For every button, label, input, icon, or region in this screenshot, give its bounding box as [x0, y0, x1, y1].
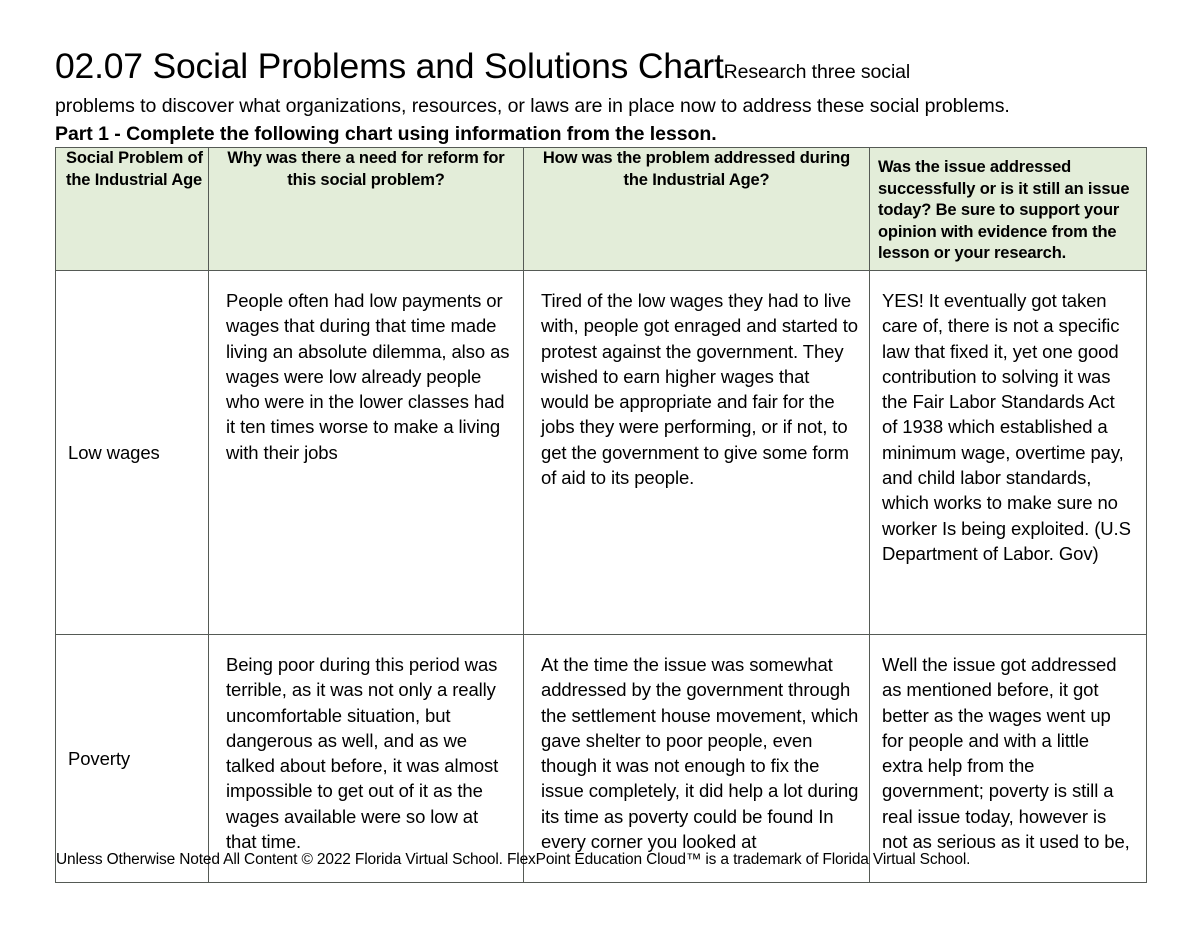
table-row: Poverty Being poor during this period wa…: [56, 635, 1147, 883]
social-problems-table: Social Problem of the Industrial Age Why…: [55, 147, 1147, 883]
table-header-row: Social Problem of the Industrial Age Why…: [56, 148, 1147, 271]
column-header-issue-today: Was the issue addressed successfully or …: [870, 148, 1147, 271]
document-page: 02.07 Social Problems and Solutions Char…: [0, 0, 1200, 927]
heading-subtitle-rest: problems to discover what organizations,…: [55, 93, 1150, 120]
cell-how-poverty[interactable]: At the time the issue was somewhat addre…: [524, 635, 870, 883]
column-header-need-for-reform: Why was there a need for reform for this…: [209, 148, 524, 271]
cell-why-poverty[interactable]: Being poor during this period was terrib…: [209, 635, 524, 883]
cell-how-low-wages[interactable]: Tired of the low wages they had to live …: [524, 271, 870, 635]
cell-today-low-wages[interactable]: YES! It eventually got taken care of, th…: [870, 271, 1147, 635]
heading-subtitle-inline: Research three social: [724, 61, 911, 83]
table-body: Low wages People often had low payments …: [56, 271, 1147, 883]
column-header-social-problem: Social Problem of the Industrial Age: [56, 148, 209, 271]
cell-problem-poverty[interactable]: Poverty: [56, 635, 209, 883]
table-header: Social Problem of the Industrial Age Why…: [56, 148, 1147, 271]
page-footer: Unless Otherwise Noted All Content © 202…: [56, 850, 970, 870]
column-header-how-addressed: How was the problem addressed during the…: [524, 148, 870, 271]
heading-part-label: Part 1 - Complete the following chart us…: [55, 121, 1150, 147]
page-title: 02.07 Social Problems and Solutions Char…: [55, 46, 724, 86]
cell-problem-low-wages[interactable]: Low wages: [56, 271, 209, 635]
cell-today-poverty[interactable]: Well the issue got addressed as mentione…: [870, 635, 1147, 883]
document-heading: 02.07 Social Problems and Solutions Char…: [55, 46, 1150, 147]
table-row: Low wages People often had low payments …: [56, 271, 1147, 635]
heading-line-one: 02.07 Social Problems and Solutions Char…: [55, 46, 1150, 92]
cell-why-low-wages[interactable]: People often had low payments or wages t…: [209, 271, 524, 635]
